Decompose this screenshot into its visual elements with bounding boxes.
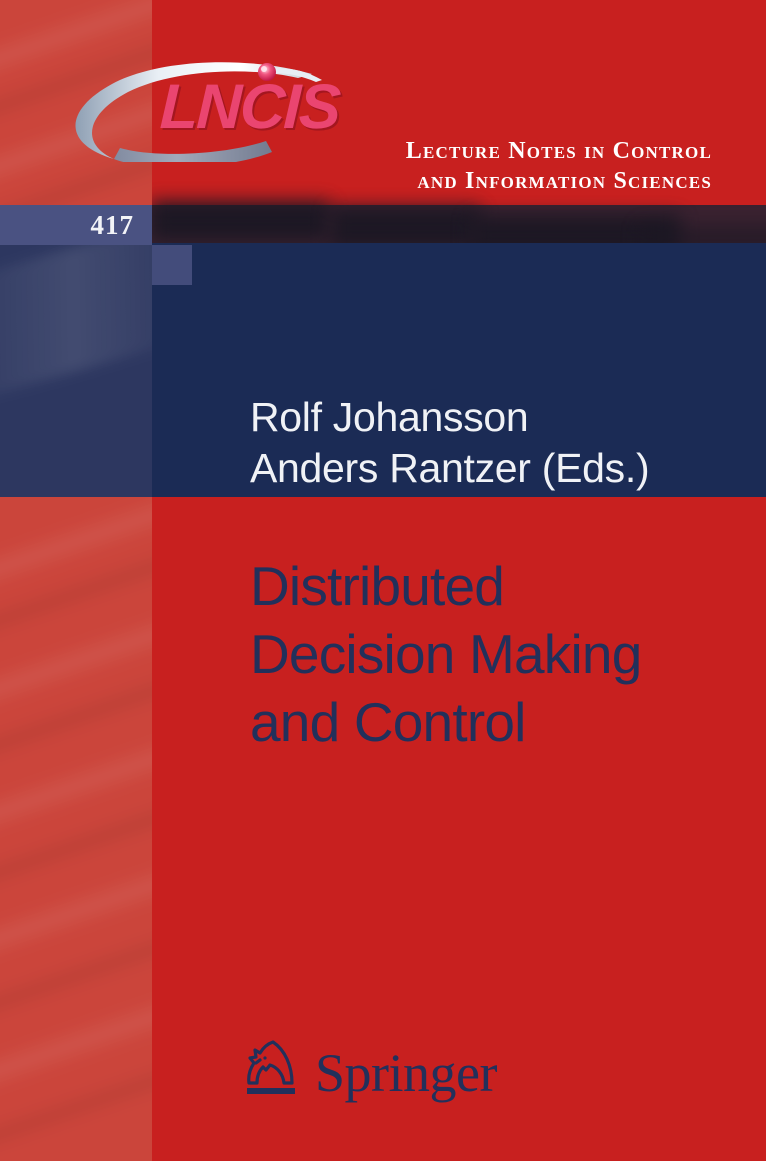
diagonal-stripe <box>0 955 152 1124</box>
left-accent-strip-navy <box>0 205 152 497</box>
book-title-line-2: Decision Making <box>250 620 750 688</box>
diagonal-stripe <box>0 823 152 992</box>
lncis-wordmark: LNCIS <box>159 71 341 143</box>
diagonal-stripe <box>0 1022 152 1161</box>
author-line-2: Anders Rantzer (Eds.) <box>250 443 730 494</box>
springer-wordmark: Springer <box>315 1042 497 1104</box>
author-list: Rolf Johansson Anders Rantzer (Eds.) <box>250 392 730 494</box>
transition-blob <box>150 201 330 241</box>
series-title: Lecture Notes in Control and Information… <box>0 136 712 196</box>
diagonal-stripe <box>0 632 152 793</box>
book-title-line-1: Distributed <box>250 552 750 620</box>
diagonal-stripe <box>0 508 152 669</box>
series-title-line-2: and Information Sciences <box>0 166 712 196</box>
accent-square <box>152 245 192 285</box>
author-line-1: Rolf Johansson <box>250 392 730 443</box>
volume-number: 417 <box>0 205 152 245</box>
book-title: Distributed Decision Making and Control <box>250 552 750 756</box>
springer-knight-icon <box>243 1036 305 1102</box>
series-title-line-1: Lecture Notes in Control <box>0 136 712 166</box>
diagonal-stripe <box>0 890 152 1051</box>
diagonal-stripe <box>0 573 152 742</box>
diagonal-stripe <box>0 697 152 866</box>
book-cover: 417 <box>0 0 766 1161</box>
diagonal-stripe <box>0 760 152 921</box>
publisher-logo: Springer <box>243 1036 473 1106</box>
book-title-line-3: and Control <box>250 688 750 756</box>
